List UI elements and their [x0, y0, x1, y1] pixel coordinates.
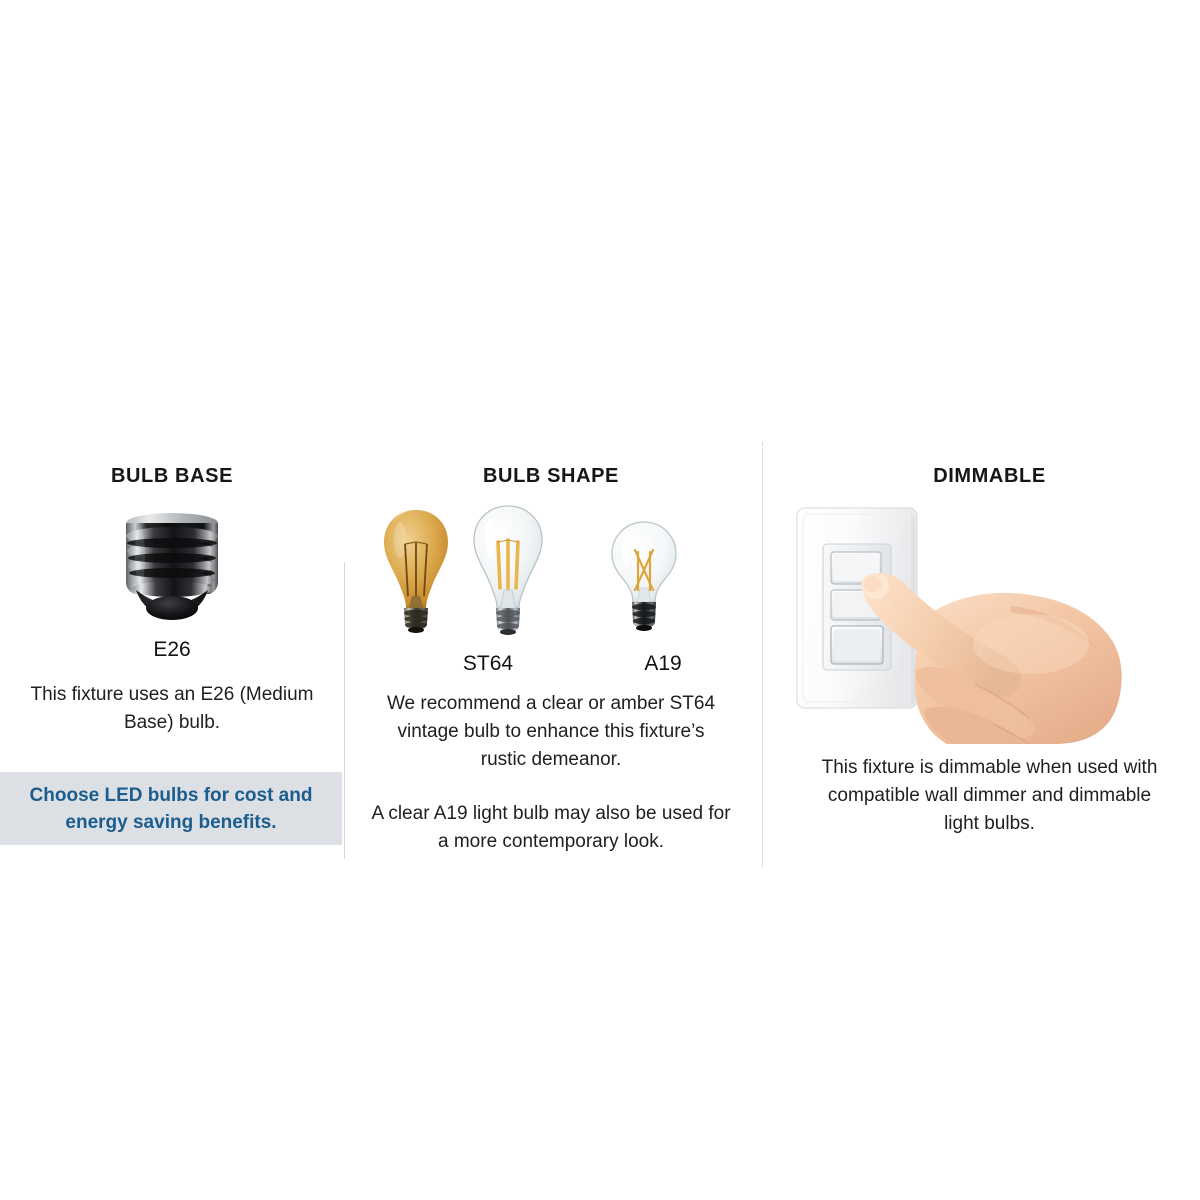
bulb-shape-description-primary: We recommend a clear or amber ST64 vinta…: [345, 690, 757, 774]
bulb-information-title-rest: INFORMATION: [83, 347, 298, 379]
bulb-information-title-strong: BULB: [0, 347, 83, 379]
dimming-information-title-strong: DIMMING: [18, 380, 150, 412]
bulb-information-header-bar: BULB INFORMATION: [0, 347, 757, 380]
bulb-base-column: BULB BASE: [0, 440, 344, 737]
a19-clear-bulb-icon: [607, 518, 681, 642]
dimmable-description: This fixture is dimmable when used with …: [779, 754, 1200, 838]
wall-dimmer-with-hand-icon: [779, 494, 1200, 744]
led-bulb-callout-text: Choose LED bulbs for cost and energy sav…: [0, 782, 342, 836]
dimming-information-header-bar: DIMMING INFORMATION: [0, 380, 421, 413]
bulb-shape-labels: ST64 A19: [345, 652, 757, 682]
dimmer-figure: [779, 494, 1200, 744]
bulb-shape-label-a19: A19: [598, 652, 728, 676]
dimming-information-title-rest: INFORMATION: [150, 380, 365, 412]
st64-amber-bulb-icon: [378, 506, 454, 646]
bulb-base-figure: [0, 496, 344, 642]
panel-dotted-divider: [762, 442, 763, 867]
bulb-shape-title: BULB SHAPE: [345, 465, 757, 488]
dimmable-column: DIMMABLE: [779, 440, 1200, 838]
bulb-base-description: This fixture uses an E26 (Medium Base) b…: [0, 681, 344, 737]
dimming-information-title: DIMMING INFORMATION: [18, 380, 421, 413]
bulb-and-dimming-information-band: BULB INFORMATION DIMMING INFORMATION BUL…: [0, 347, 1200, 847]
bulb-base-title: BULB BASE: [0, 465, 344, 488]
bulb-shape-figure-row: [345, 498, 757, 646]
bulb-shape-column: BULB SHAPE: [345, 440, 757, 856]
bulb-shape-label-st64: ST64: [423, 652, 553, 676]
st64-clear-bulb-icon: [468, 502, 548, 646]
e26-screw-base-icon: [110, 510, 234, 628]
bulb-information-panel: BULB BASE: [0, 440, 757, 847]
led-bulb-callout: Choose LED bulbs for cost and energy sav…: [0, 772, 342, 845]
dimming-information-panel: DIMMABLE: [779, 440, 1200, 847]
bulb-shape-description-secondary: A clear A19 light bulb may also be used …: [345, 800, 757, 856]
dimmable-title: DIMMABLE: [779, 465, 1200, 488]
bulb-information-title: BULB INFORMATION: [0, 347, 757, 380]
